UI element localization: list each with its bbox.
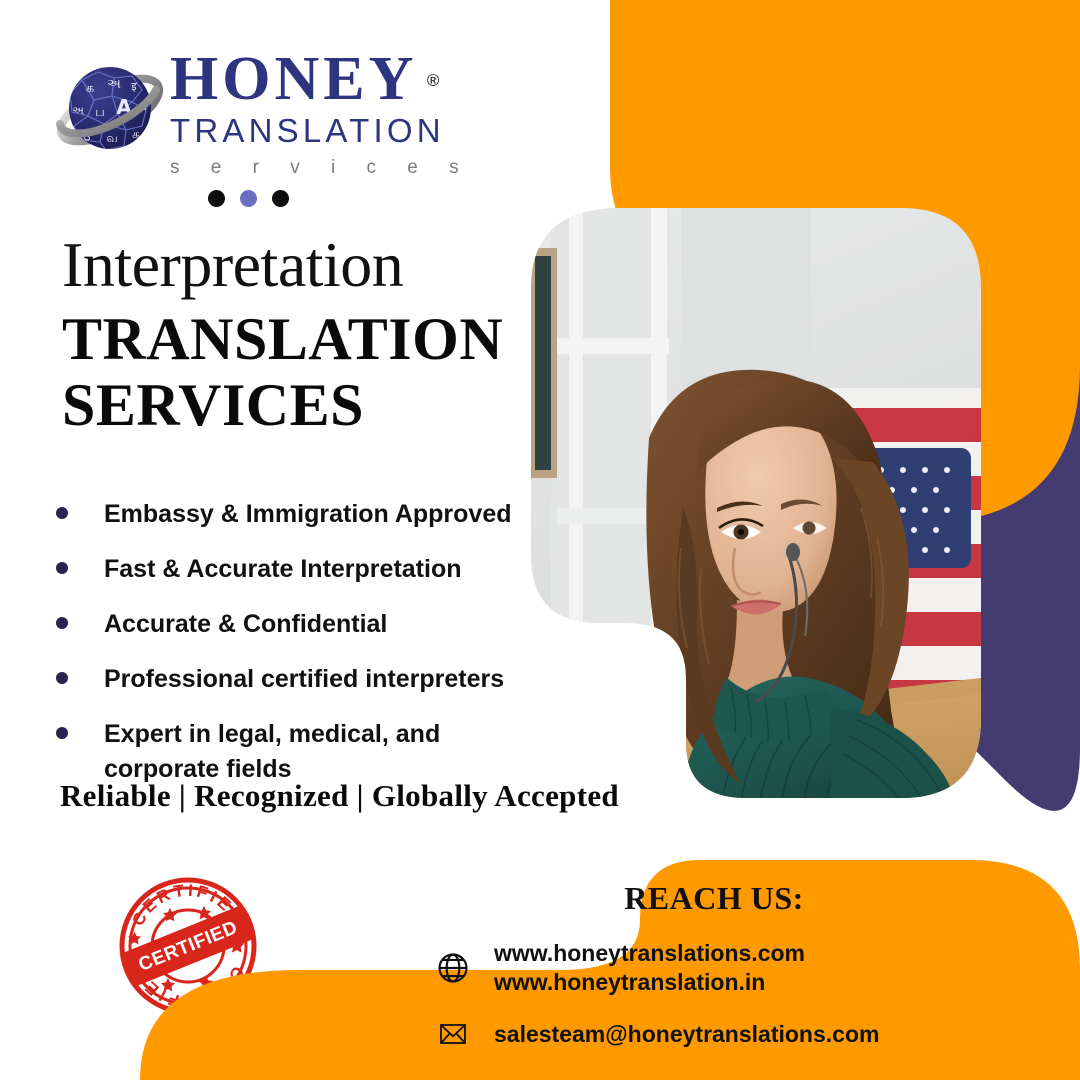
svg-text:અ: અ <box>107 77 121 92</box>
globe-icon <box>430 945 476 991</box>
website-1[interactable]: www.honeytranslations.com <box>494 939 805 968</box>
reach-us-content: REACH US: www.honeytranslations.com www.… <box>430 880 1050 1080</box>
feature-list: Embassy & Immigration Approved Fast & Ac… <box>56 497 556 807</box>
dot-1 <box>208 190 225 207</box>
poster-canvas: க અ इ અ ப A ड ੳ வ க HONEY® TRANSLATION s… <box>0 0 1080 1080</box>
svg-text:ப: ப <box>95 105 105 120</box>
contact-row-website[interactable]: www.honeytranslations.com www.honeytrans… <box>430 939 1050 997</box>
contact-row-phone[interactable]: +91 7299005577 | 08042754952 <box>430 1071 1050 1080</box>
logo-name-secondary: TRANSLATION <box>170 110 470 152</box>
bullet-dot-icon <box>56 617 68 629</box>
website-labels: www.honeytranslations.com www.honeytrans… <box>494 939 805 997</box>
list-item: Expert in legal, medical, and corporate … <box>56 717 556 787</box>
headline-bold-block: TRANSLATION SERVICES <box>62 306 532 438</box>
dot-2 <box>240 190 257 207</box>
phone-icon <box>430 1071 476 1080</box>
svg-text:வ: வ <box>106 131 117 145</box>
contact-row-email[interactable]: salesteam@honeytranslations.com <box>430 1011 1050 1057</box>
brand-logo: க અ इ અ ப A ड ੳ வ க HONEY® TRANSLATION s… <box>52 48 472 208</box>
bullet-dot-icon <box>56 672 68 684</box>
hero-photo <box>531 208 981 828</box>
feature-label: Expert in legal, medical, and corporate … <box>104 717 454 787</box>
feature-label: Accurate & Confidential <box>104 607 387 642</box>
decorative-dots <box>208 190 289 207</box>
dot-3 <box>272 190 289 207</box>
website-2[interactable]: www.honeytranslation.in <box>494 968 805 997</box>
svg-text:க: க <box>132 127 140 141</box>
headline-script-line: Interpretation <box>62 228 532 302</box>
logo-name-primary: HONEY® <box>170 48 417 110</box>
headline-bold-line-1: TRANSLATION <box>62 306 532 372</box>
feature-label: Professional certified interpreters <box>104 662 504 697</box>
svg-text:इ: इ <box>131 80 137 93</box>
email-label[interactable]: salesteam@honeytranslations.com <box>494 1020 879 1049</box>
list-item: Embassy & Immigration Approved <box>56 497 556 532</box>
list-item: Fast & Accurate Interpretation <box>56 552 556 587</box>
list-item: Accurate & Confidential <box>56 607 556 642</box>
envelope-icon <box>430 1011 476 1057</box>
logo-name-tertiary: s e r v i c e s <box>170 152 470 184</box>
list-item: Professional certified interpreters <box>56 662 556 697</box>
feature-label: Embassy & Immigration Approved <box>104 497 512 532</box>
registered-trademark-icon: ® <box>427 50 440 112</box>
reach-us-title: REACH US: <box>444 880 984 917</box>
bullet-dot-icon <box>56 727 68 739</box>
headline-bold-line-2: SERVICES <box>62 372 532 438</box>
bullet-dot-icon <box>56 562 68 574</box>
svg-text:க: க <box>86 81 94 96</box>
svg-text:અ: અ <box>72 104 84 117</box>
globe-languages-icon: க અ इ અ ப A ड ੳ வ க <box>52 52 170 170</box>
bullet-dot-icon <box>56 507 68 519</box>
feature-label: Fast & Accurate Interpretation <box>104 552 461 587</box>
headline-block: Interpretation TRANSLATION SERVICES <box>62 228 532 438</box>
